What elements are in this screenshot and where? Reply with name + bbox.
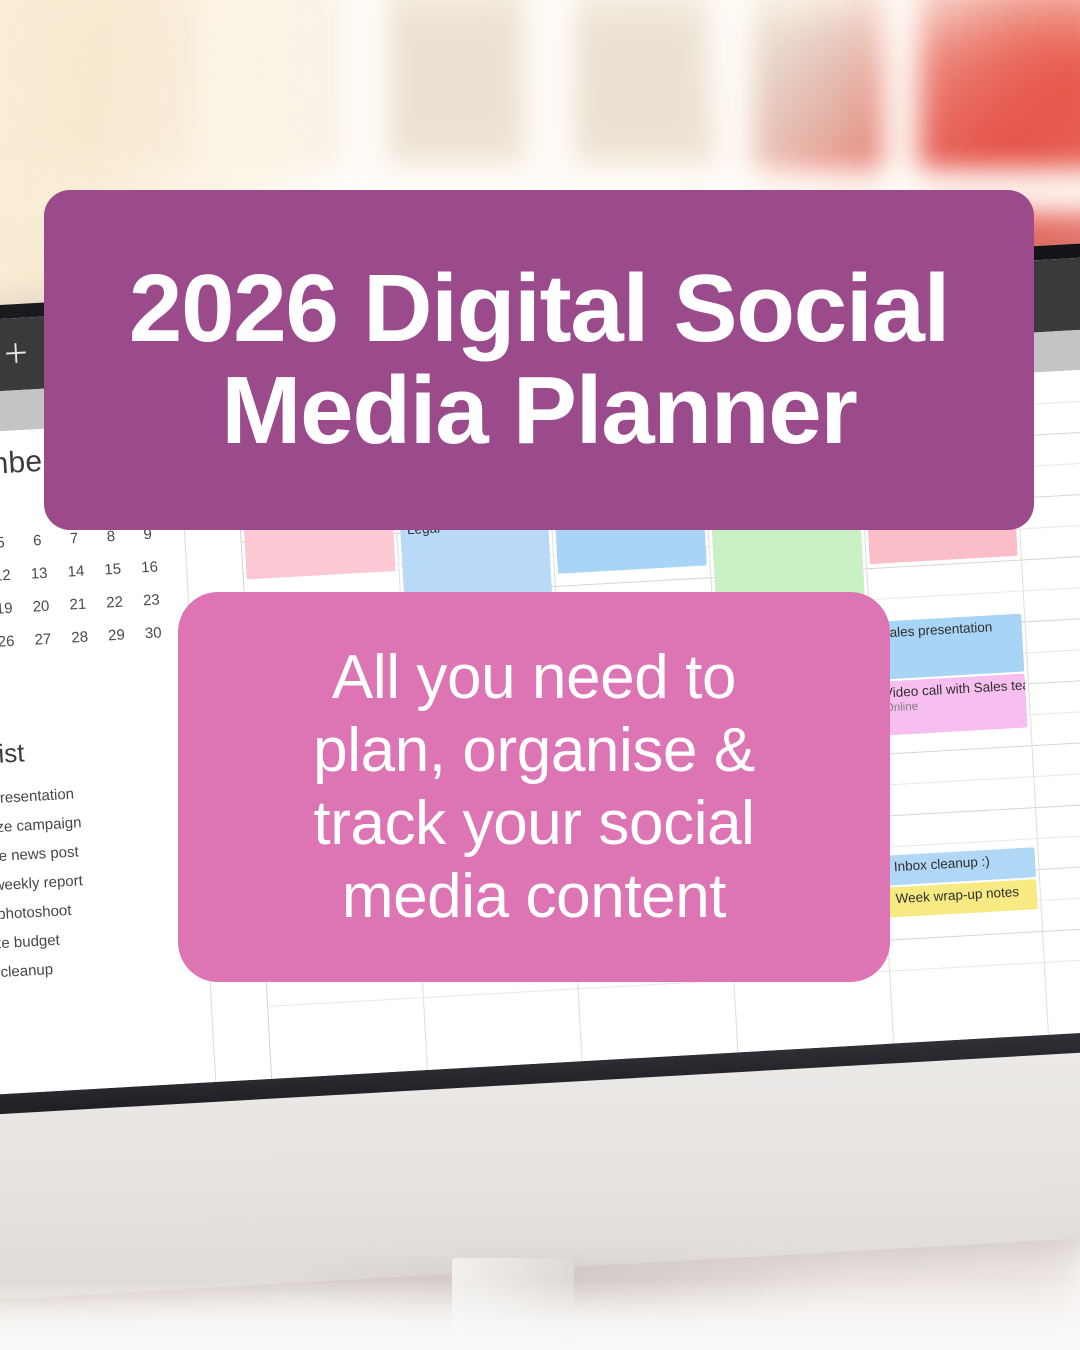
grid-line	[1021, 520, 1080, 530]
mini-calendar-day[interactable]: 30	[134, 620, 172, 646]
mini-calendar-day[interactable]: 15	[94, 556, 132, 582]
mini-calendar-day[interactable]: 5	[0, 529, 20, 555]
grid-line	[1036, 798, 1080, 808]
todo-item-label: Sales presentation	[0, 786, 74, 810]
mini-calendar-day[interactable]: 21	[59, 591, 97, 617]
grid-line	[1028, 644, 1080, 654]
grid-line	[1042, 891, 1080, 901]
grid-line	[1045, 953, 1080, 963]
mini-calendar-day[interactable]: 19	[0, 595, 23, 621]
grid-line	[423, 988, 577, 998]
todo-list: Sales presentationOrganize campaignWebsi…	[0, 773, 195, 991]
mini-calendar-day[interactable]: 28	[61, 624, 99, 650]
todo-list-title: To-do list	[0, 728, 183, 774]
main-title-banner: 2026 Digital Social Media Planner	[44, 190, 1034, 530]
mini-calendar-day[interactable]: 6	[18, 527, 56, 553]
window-pane-tint	[570, 10, 710, 160]
grid-line	[1029, 674, 1080, 684]
todo-item-label: Write weekly report	[0, 872, 83, 896]
calendar-event[interactable]: Video call with Sales teamOnline	[876, 673, 1027, 735]
main-title-line-2: Media Planner	[221, 360, 856, 462]
todo-item-label: Inbox cleanup	[0, 961, 54, 983]
grid-line	[869, 590, 1023, 600]
mini-calendar-day[interactable]: 27	[24, 626, 62, 652]
window-pane-tint	[380, 0, 530, 160]
grid-line	[1035, 767, 1080, 777]
grid-line	[1024, 582, 1080, 592]
grid-line	[883, 838, 1037, 848]
calendar-event-title: Week wrap-up notes	[895, 884, 1031, 908]
grid-line	[881, 807, 1035, 817]
subtitle-line-3: track your social	[313, 787, 754, 860]
grid-line	[1040, 860, 1080, 870]
mini-calendar-day[interactable]: 12	[0, 562, 21, 588]
mini-calendar-day[interactable]: 20	[22, 593, 60, 619]
todo-item-label: Finalize budget	[0, 932, 60, 955]
mini-calendar-day[interactable]: 14	[57, 558, 95, 584]
plus-icon[interactable]: ＋	[2, 340, 31, 369]
promo-graphic: ☰ ▦ ＋ ▭ ⚲ ⚙ September < >	[0, 0, 1080, 1350]
grid-line	[890, 962, 1044, 972]
todo-item-label: Team photoshoot	[0, 902, 72, 925]
mini-calendar-day[interactable]: 23	[132, 587, 170, 613]
grid-line	[879, 776, 1033, 786]
mini-calendar-day[interactable]: 26	[0, 628, 25, 654]
grid-line	[1043, 922, 1080, 932]
calendar-event[interactable]: Sales presentation	[873, 614, 1025, 680]
calendar-event-title: Inbox cleanup :)	[893, 852, 1029, 876]
mini-calendar-day[interactable]: 16	[130, 554, 168, 580]
grid-line	[1022, 551, 1080, 561]
todo-item-label: Organize campaign	[0, 814, 82, 838]
window-pane-tint	[740, 18, 870, 158]
subtitle-line-2: plan, organise &	[313, 714, 755, 787]
mini-calendar-day[interactable]: 29	[97, 622, 135, 648]
grid-line	[1026, 613, 1080, 623]
grid-line	[556, 577, 710, 587]
calendar-event[interactable]: Week wrap-up notes	[888, 879, 1038, 917]
calendar-event-title: Sales presentation	[880, 618, 1016, 642]
subtitle-banner: All you need to plan, organise & track y…	[178, 592, 890, 982]
grid-line	[1031, 705, 1080, 715]
mini-calendar-day[interactable]: 22	[96, 589, 134, 615]
grid-line	[888, 931, 1042, 941]
todo-item-label: Website news post	[0, 843, 79, 867]
mini-calendar-day[interactable]: 13	[20, 560, 58, 586]
grid-line	[1033, 736, 1080, 746]
subtitle-line-4: media content	[342, 860, 726, 933]
grid-line	[877, 745, 1031, 755]
grid-line	[1038, 829, 1080, 839]
subtitle-line-1: All you need to	[332, 641, 736, 714]
mini-calendar-blank: .	[0, 496, 18, 522]
main-title-line-1: 2026 Digital Social	[129, 258, 949, 360]
desk-foreground	[0, 1280, 1080, 1350]
grid-line	[268, 997, 422, 1007]
